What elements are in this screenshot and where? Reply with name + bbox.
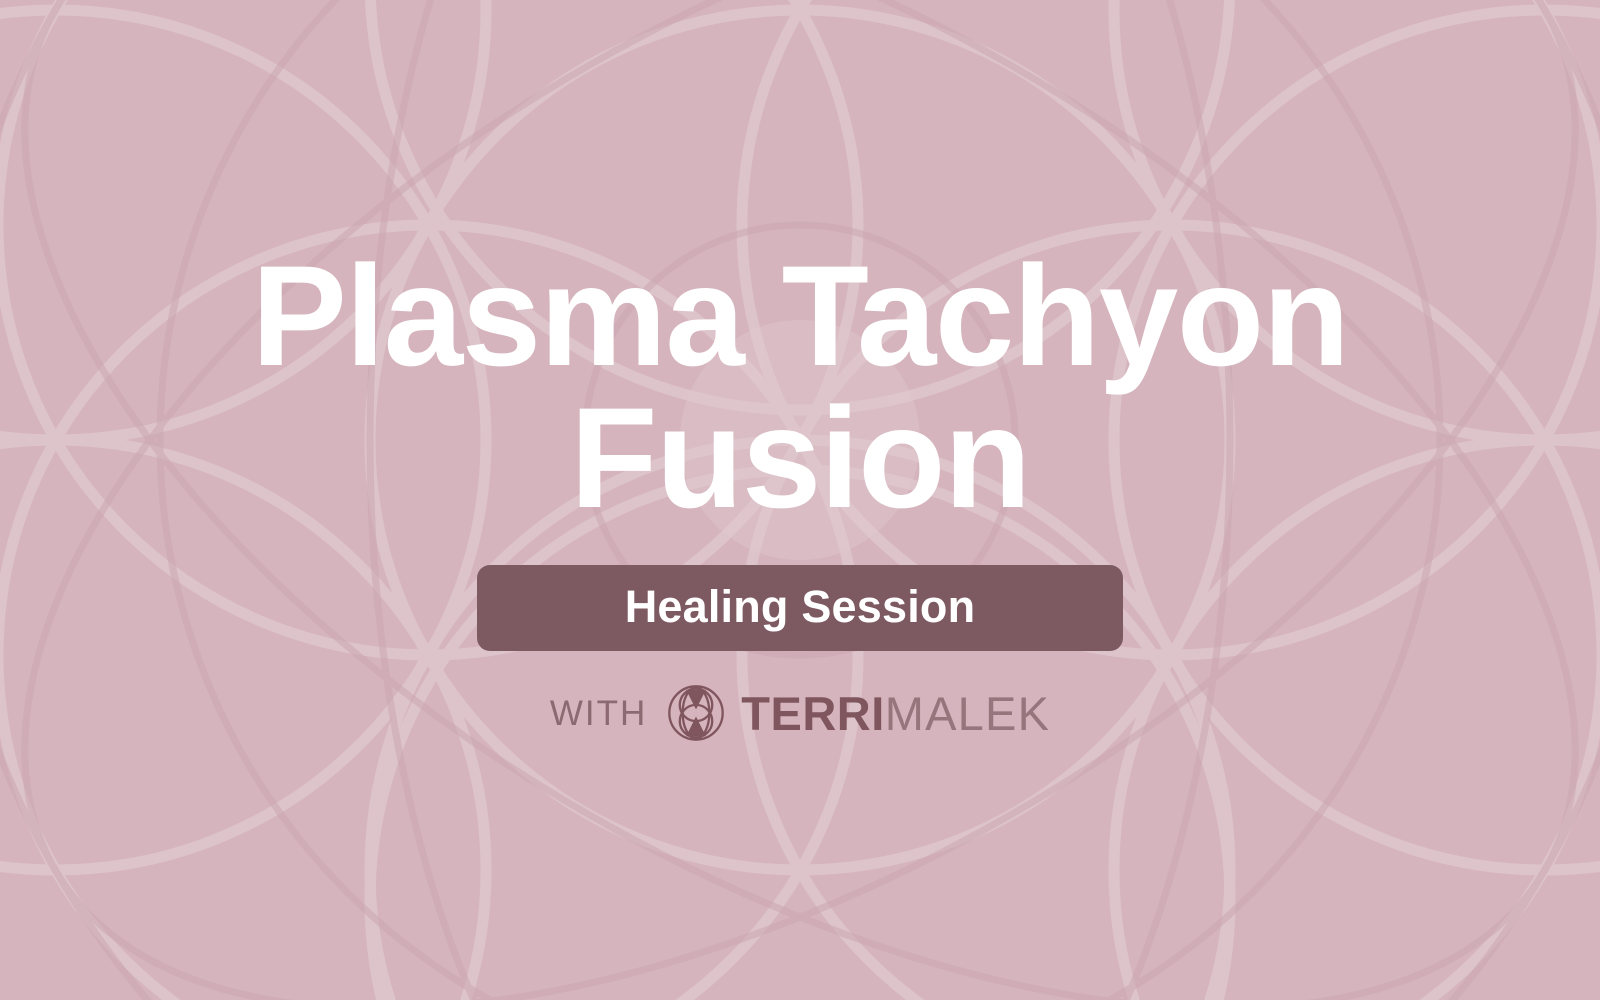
brand-wordmark: TERRIMALEK <box>741 690 1050 737</box>
slide-content: Plasma Tachyon Fusion Healing Session WI… <box>0 0 1600 1000</box>
page-title-line-1: Plasma Tachyon <box>252 246 1349 388</box>
byline: WITH TERRIMALEK <box>550 684 1050 742</box>
page-title-line-2: Fusion <box>252 388 1349 530</box>
byline-with-label: WITH <box>550 696 647 731</box>
brand-last-name: MALEK <box>885 687 1050 740</box>
brand-first-name: TERRI <box>741 687 885 740</box>
page-title: Plasma Tachyon Fusion <box>252 246 1349 529</box>
vesica-circle-logo-icon <box>667 684 725 742</box>
status-badge: Healing Session <box>477 565 1123 651</box>
promo-slide: Plasma Tachyon Fusion Healing Session WI… <box>0 0 1600 1000</box>
